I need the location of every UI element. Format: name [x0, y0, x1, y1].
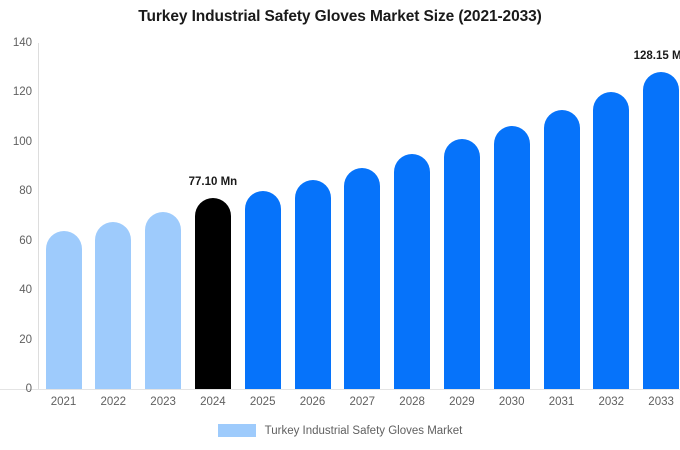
bar-2022[interactable] [95, 222, 131, 389]
bar-2030[interactable] [494, 126, 530, 389]
y-axis-tick-label: 20 [2, 334, 32, 346]
bar-slot [46, 43, 82, 389]
bar-2027[interactable] [344, 168, 380, 389]
bar-slot [643, 43, 679, 389]
y-axis-tick-label: 0 [2, 383, 32, 395]
x-axis-line [0, 389, 680, 390]
bar-2026[interactable] [295, 180, 331, 389]
bar-2032[interactable] [593, 92, 629, 389]
bar-chart: Turkey Industrial Safety Gloves Market S… [0, 0, 680, 450]
bar-slot [394, 43, 430, 389]
y-axis-tick-label: 100 [2, 136, 32, 148]
plot-area [38, 43, 680, 389]
bar-value-label-2024: 77.10 Mn [189, 176, 238, 188]
chart-legend: Turkey Industrial Safety Gloves Market [0, 424, 680, 437]
bar-2025[interactable] [245, 191, 281, 389]
bar-2023[interactable] [145, 212, 181, 389]
bar-slot [344, 43, 380, 389]
legend-swatch [218, 424, 256, 437]
x-axis-tick-label: 2033 [631, 396, 680, 408]
bar-2024[interactable] [195, 198, 231, 389]
y-axis-tick-label: 140 [2, 37, 32, 49]
y-axis-tick-label: 80 [2, 185, 32, 197]
bar-2031[interactable] [544, 110, 580, 389]
bar-value-label-2033: 128.15 Mn [634, 50, 680, 62]
y-axis-tick-label: 60 [2, 235, 32, 247]
y-axis-tick-label: 120 [2, 86, 32, 98]
chart-title: Turkey Industrial Safety Gloves Market S… [0, 8, 680, 26]
bar-slot [593, 43, 629, 389]
y-axis-tick-labels: 020406080100120140 [0, 0, 32, 450]
bar-slot [95, 43, 131, 389]
y-axis-tick-label: 40 [2, 284, 32, 296]
bar-slot [295, 43, 331, 389]
bar-slot [195, 43, 231, 389]
bar-2033[interactable] [643, 72, 679, 389]
bar-2029[interactable] [444, 139, 480, 389]
bar-2028[interactable] [394, 154, 430, 389]
bar-slot [494, 43, 530, 389]
bar-slot [444, 43, 480, 389]
bar-slot [245, 43, 281, 389]
bar-2021[interactable] [46, 231, 82, 389]
bar-slot [544, 43, 580, 389]
bar-slot [145, 43, 181, 389]
legend-label: Turkey Industrial Safety Gloves Market [265, 425, 463, 437]
